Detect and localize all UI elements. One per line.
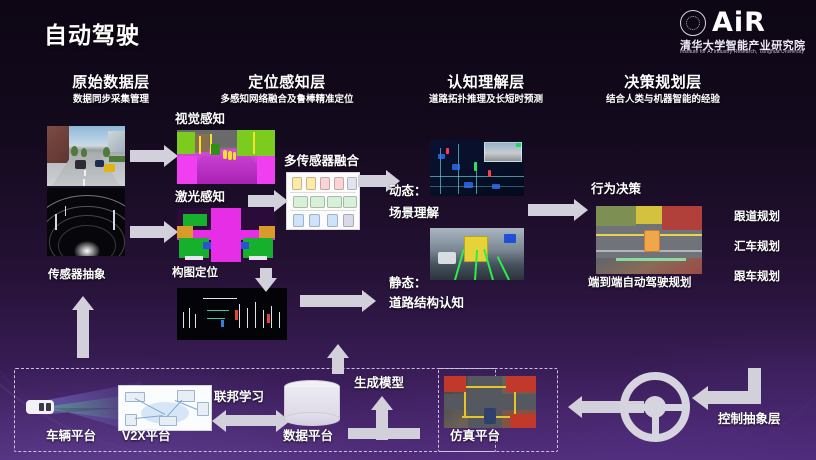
px-terrain-class (259, 226, 275, 238)
px-node (347, 177, 357, 190)
px-sidewalk-class (257, 156, 275, 184)
px-lane-detection (497, 256, 510, 280)
arrow-camera-to-visual (130, 145, 178, 167)
px-node (343, 214, 354, 227)
px-node (309, 214, 320, 227)
px-node (293, 196, 308, 208)
column-title: 认知理解层 (386, 74, 586, 91)
px-node (197, 402, 209, 416)
arrow-shaft (358, 175, 386, 187)
arrow-head (692, 386, 708, 410)
arrow-generative-model-merge (348, 396, 420, 440)
px-map-feature (255, 302, 256, 328)
arrow-shaft-horizontal (708, 391, 760, 404)
px-ego-vehicle (484, 408, 496, 424)
arrow-head (72, 296, 94, 310)
panel-occupancy-map (177, 288, 287, 340)
label-data-platform: 数据平台 (283, 429, 333, 443)
px-node (327, 196, 342, 208)
px-node (310, 196, 325, 208)
px-traffic-signal-red (488, 170, 491, 177)
arrow-head (574, 199, 588, 221)
panel-sim-bev (444, 376, 536, 428)
panel-camera-rgb (47, 126, 125, 186)
panel-camera-segmentation (177, 130, 275, 184)
px-lane-marking (84, 170, 86, 176)
px-pedestrian-class (228, 151, 232, 160)
px-pole-class (253, 132, 255, 154)
arrow-head-left (212, 410, 226, 432)
panel-dashcam-lanes (430, 228, 524, 280)
arrow-shaft (528, 204, 574, 216)
px-grid-line (290, 210, 356, 211)
panel-bev-decision (596, 206, 702, 274)
label-static: 静态： (389, 276, 427, 290)
px-vehicle-window (39, 403, 44, 411)
arrow-federated-learning-bidirectional (212, 410, 290, 432)
label-generative-model: 生成模型 (354, 376, 404, 390)
px-map-feature (271, 306, 272, 328)
px-traffic-signal-red (446, 148, 449, 154)
px-vehicle-window (46, 403, 51, 411)
arrow-data-to-perception (326, 344, 350, 374)
px-node (125, 414, 137, 426)
px-vegetation-class (237, 130, 275, 156)
px-lane-marking (83, 179, 85, 186)
px-building-class (195, 134, 209, 152)
panel-lidar-segmentation (177, 208, 275, 262)
arrow-shaft (248, 195, 274, 207)
label-vehicle-platform: 车辆平台 (46, 429, 96, 443)
px-marking-class (185, 256, 203, 260)
px-node (159, 416, 177, 426)
px-tree (71, 146, 78, 156)
px-vegetation (596, 206, 636, 226)
logo-en-name: Institute for AI Industry Research, Tsin… (680, 49, 804, 55)
label-visual-perception: 视觉感知 (175, 112, 225, 126)
px-tree (81, 148, 87, 157)
label-control-abstraction: 控制抽象层 (718, 412, 781, 426)
label-sensor-abstraction: 传感器抽象 (48, 268, 106, 282)
px-lidar-point (65, 206, 66, 216)
px-inset-badge (516, 143, 521, 147)
px-node (334, 177, 344, 190)
steering-wheel-icon (620, 372, 690, 442)
px-wheel-spoke (652, 416, 659, 438)
px-pole-class (199, 136, 201, 154)
database-cylinder-shape (284, 380, 340, 426)
px-lidar-origin-glow (74, 241, 101, 256)
arrow-cognition-to-decision (528, 198, 590, 222)
arrow-head (255, 278, 277, 292)
px-pedestrian-class (233, 152, 236, 160)
px-camera-inset (484, 142, 522, 162)
label-mapping-localization: 构图定位 (172, 266, 218, 280)
arrow-shaft (260, 268, 272, 278)
px-node (292, 177, 302, 190)
label-simulation-platform: 仿真平台 (450, 429, 500, 443)
px-map-landmark (221, 320, 224, 327)
arrow-head (164, 145, 178, 167)
px-vegetation-class (183, 214, 207, 226)
column-subtitle: 多感知网络融合及鲁棒精准定位 (172, 93, 402, 106)
px-wheel-spoke (624, 404, 648, 411)
page-title: 自动驾驶 (44, 16, 140, 50)
arrow-head (371, 396, 393, 410)
panel-v2x-topology (118, 385, 212, 431)
label-v2x-platform: V2X平台 (122, 429, 171, 443)
px-node (327, 214, 338, 227)
px-building (506, 376, 536, 392)
column-title: 决策规划层 (558, 74, 768, 91)
px-marking-class (249, 256, 267, 260)
px-wheel-spoke (662, 404, 686, 411)
px-db-bottom (284, 412, 340, 426)
arrow-shaft (348, 428, 382, 439)
arrow-shaft (332, 356, 344, 374)
px-vehicle (104, 164, 115, 172)
arrow-perception-to-fusion (248, 190, 288, 212)
label-laser-perception: 激光感知 (175, 190, 225, 204)
px-traffic-signal-green (474, 162, 477, 171)
px-vehicle-class (241, 242, 249, 249)
px-map-feature (203, 298, 237, 299)
px-detected-object (492, 184, 500, 189)
px-map-feature (195, 314, 196, 328)
label-car-following-plan: 跟车规划 (734, 270, 780, 284)
px-traffic-sign (504, 234, 516, 243)
px-building (47, 126, 69, 163)
slide-root: 自动驾驶 AiR 清华大学智能产业研究院 Institute for AI In… (0, 0, 816, 460)
px-ego-vehicle (644, 230, 660, 252)
column-heading-cognition: 认知理解层 道路拓扑推理及长短时预测 (386, 74, 586, 106)
px-lane (430, 176, 524, 177)
px-vehicle (75, 160, 86, 169)
column-subtitle: 道路拓扑推理及长短时预测 (386, 93, 586, 106)
px-node (343, 196, 357, 208)
label-lane-following-plan: 跟道规划 (734, 210, 780, 224)
px-map-trajectory (207, 318, 225, 319)
px-map-feature (247, 308, 248, 328)
px-map-landmark (267, 314, 270, 323)
label-behavior-decision: 行为决策 (591, 182, 641, 196)
px-detected-object (438, 154, 445, 159)
px-node (320, 177, 330, 190)
arrow-head (327, 344, 349, 358)
arrow-shaft (226, 415, 276, 426)
px-building (510, 414, 536, 428)
column-heading-perception: 定位感知层 多感知网络融合及鲁棒精准定位 (172, 74, 402, 106)
label-dynamic: 动态： (389, 184, 427, 198)
px-pedestrian-class (223, 150, 227, 159)
px-vegetation-class (177, 132, 195, 154)
arrow-perception-to-mapping (255, 268, 277, 290)
px-building (636, 206, 662, 224)
arrow-lidar-to-laser (130, 221, 178, 243)
px-map-feature (183, 312, 184, 328)
px-node (306, 177, 316, 190)
px-planned-path (616, 258, 686, 261)
px-building-far (108, 131, 125, 153)
px-map-feature (279, 312, 280, 328)
arrow-head (164, 221, 178, 243)
column-subtitle: 结合人类与机器智能的经验 (558, 93, 768, 106)
px-building (662, 206, 702, 230)
label-road-structure: 道路结构认知 (389, 296, 464, 310)
panel-hd-scene (430, 140, 524, 196)
label-scene-understanding: 场景理解 (389, 206, 439, 220)
arrow-shaft (130, 226, 164, 238)
px-map-trajectory (207, 310, 229, 311)
column-heading-planning: 决策规划层 结合人类与机器智能的经验 (558, 74, 768, 106)
tsinghua-seal-icon (680, 10, 706, 36)
label-multi-sensor-fusion: 多传感器融合 (284, 154, 359, 168)
px-lidar-point (55, 214, 57, 230)
arrow-shaft (300, 295, 362, 307)
px-map-feature (239, 304, 240, 328)
px-lidar-point (113, 210, 115, 230)
arrow-head (568, 396, 582, 418)
px-detected-object (464, 182, 473, 188)
px-vegetation-class (211, 144, 220, 155)
label-end-to-end-planning: 端到端自动驾驶规划 (588, 276, 692, 290)
px-detected-object (452, 164, 460, 170)
arrow-vehicle-to-sensor-abstraction (71, 296, 95, 358)
px-building (444, 376, 466, 392)
column-title: 定位感知层 (172, 74, 402, 91)
air-wordmark: AiR (712, 8, 766, 38)
air-logo: AiR 清华大学智能产业研究院 Institute for AI Industr… (678, 8, 800, 56)
px-map-landmark (235, 310, 238, 320)
px-node (293, 214, 304, 227)
px-green-strip (109, 156, 125, 162)
arrow-shaft (376, 428, 420, 439)
label-federated-learning: 联邦学习 (214, 390, 264, 404)
px-vehicle (95, 160, 104, 167)
label-merge-plan: 汇车规划 (734, 240, 780, 254)
arrow-shaft (130, 150, 164, 162)
px-lane (430, 186, 524, 187)
arrow-head (274, 190, 288, 212)
px-vehicle-class (203, 242, 211, 249)
px-map-feature (189, 308, 190, 328)
px-terrain-class (177, 226, 193, 238)
arrow-head (362, 290, 376, 312)
px-grid-line (290, 192, 356, 193)
panel-lidar-cloud (47, 188, 125, 256)
arrow-shaft (77, 308, 89, 358)
panel-fusion-network (286, 172, 360, 230)
px-sidewalk-class (177, 156, 197, 184)
px-map-feature (263, 310, 264, 328)
px-lane-detection (483, 249, 494, 280)
px-vehicle (438, 252, 456, 264)
arrow-mapping-to-static (300, 290, 376, 312)
